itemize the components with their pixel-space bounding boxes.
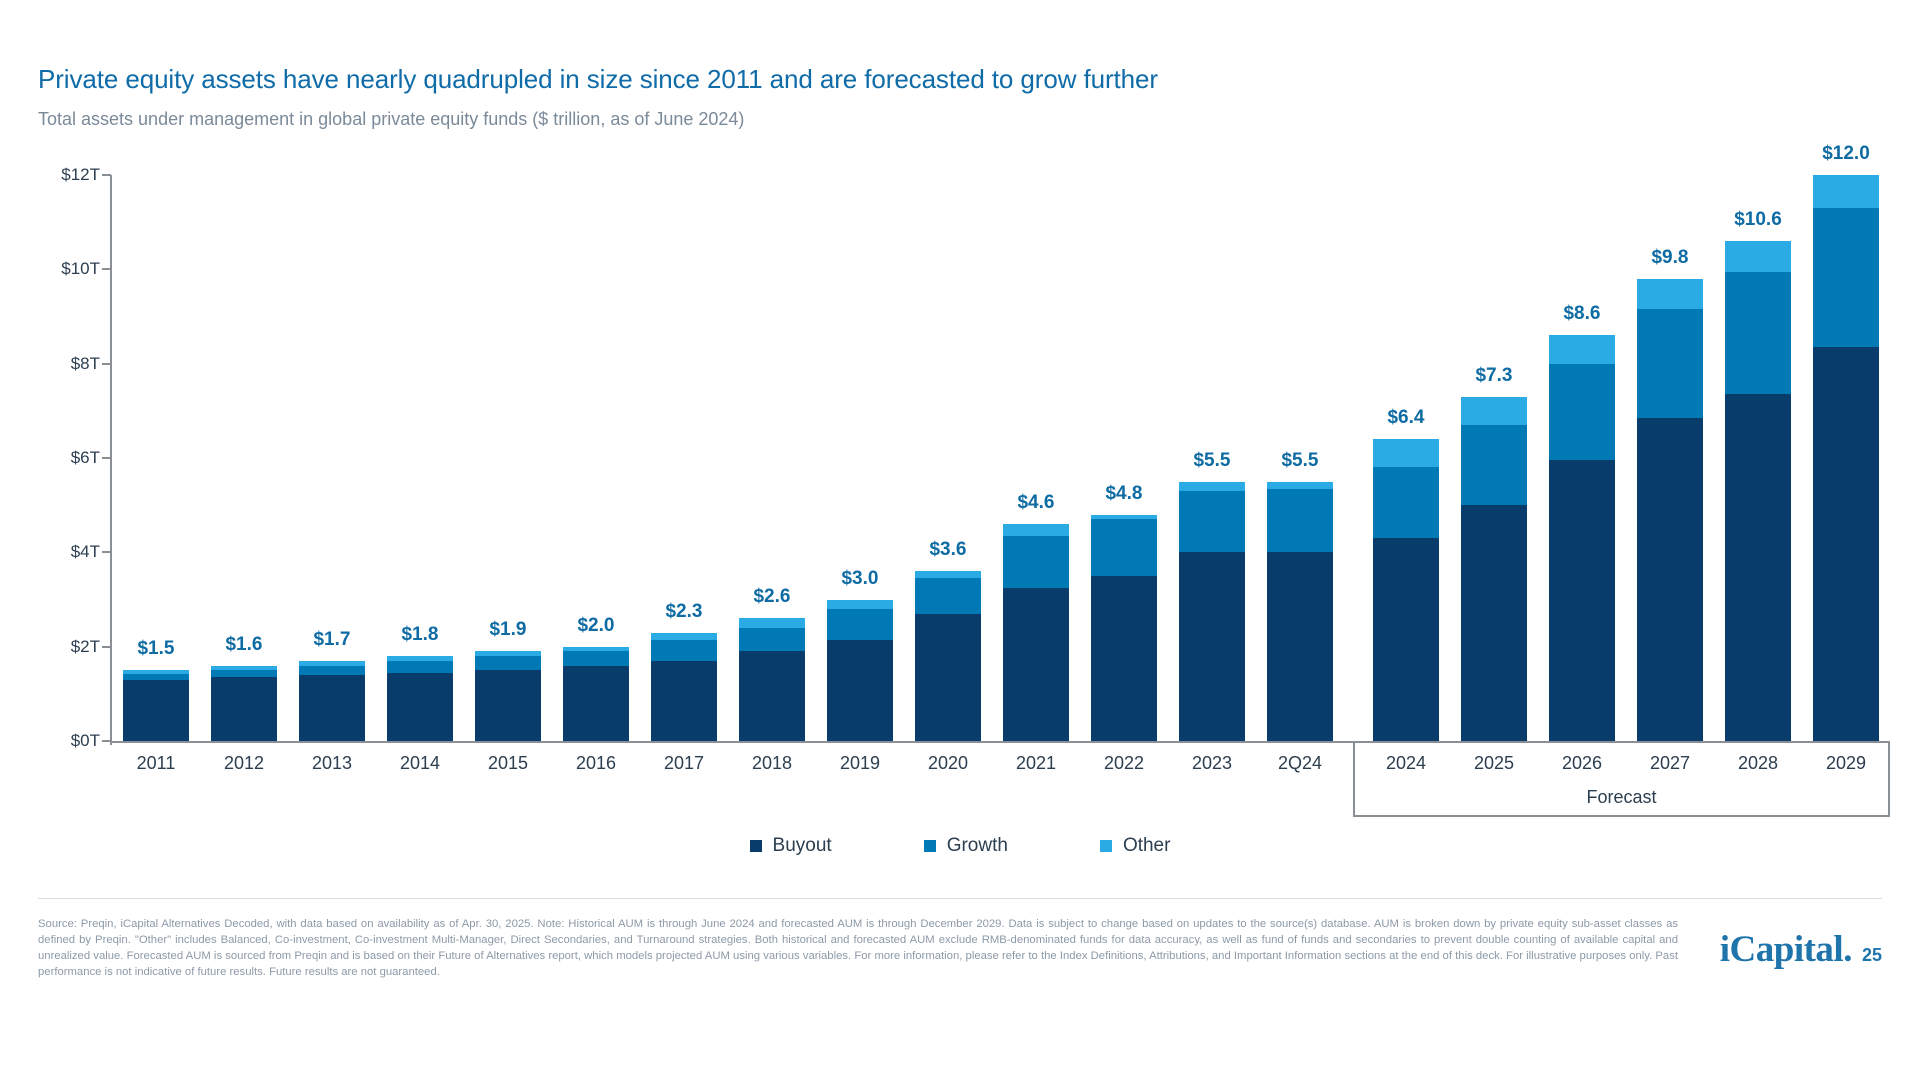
bar-stack[interactable] [211, 666, 276, 741]
x-axis-tick-label: 2021 [1016, 753, 1056, 774]
bar-value-label: $3.6 [929, 539, 966, 561]
bar-value-label: $1.7 [313, 629, 350, 651]
bar-segment-growth[interactable] [563, 651, 628, 665]
x-axis-tick-label: 2018 [752, 753, 792, 774]
bar-segment-buyout[interactable] [299, 675, 364, 741]
legend-swatch-icon [924, 840, 936, 852]
bar-segment-buyout[interactable] [915, 614, 980, 741]
bar-value-label: $9.8 [1651, 247, 1688, 269]
bar-value-label: $1.6 [225, 634, 262, 656]
bar-segment-buyout[interactable] [1091, 576, 1156, 741]
chart-area: $0T$2T$4T$6T$8T$10T$12T $1.5$1.6$1.7$1.8… [38, 175, 1890, 815]
y-axis-tick-mark [102, 268, 111, 270]
y-axis-tick-label: $8T [71, 354, 100, 374]
bar-group[interactable]: $9.8 [1637, 175, 1702, 741]
x-axis-tick-label: 2012 [224, 753, 264, 774]
bar-segment-growth[interactable] [1003, 536, 1068, 588]
chart-legend: BuyoutGrowthOther [0, 835, 1920, 857]
bar-segment-buyout[interactable] [1549, 460, 1614, 741]
bar-segment-other[interactable] [739, 618, 804, 627]
page-title: Private equity assets have nearly quadru… [38, 64, 1738, 95]
y-axis-tick-mark [102, 646, 111, 648]
bar-segment-buyout[interactable] [475, 670, 540, 741]
bar-segment-other[interactable] [1813, 175, 1878, 208]
bar-segment-other[interactable] [1637, 279, 1702, 310]
bar-segment-growth[interactable] [827, 609, 892, 640]
bar-segment-buyout[interactable] [1813, 347, 1878, 741]
bar-stack[interactable] [1549, 335, 1614, 741]
bar-segment-buyout[interactable] [1267, 552, 1332, 741]
forecast-baseline [1353, 815, 1890, 817]
x-axis-tick-label: 2015 [488, 753, 528, 774]
bar-value-label: $8.6 [1563, 303, 1600, 325]
x-axis-tick-label: 2027 [1650, 753, 1690, 774]
legend-item-other[interactable]: Other [1100, 835, 1171, 857]
bar-value-label: $5.5 [1193, 450, 1230, 472]
forecast-right-edge [1888, 743, 1890, 817]
icapital-logo: iCapital. [1720, 928, 1852, 971]
y-axis: $0T$2T$4T$6T$8T$10T$12T [38, 175, 110, 741]
bar-stack[interactable] [1373, 439, 1438, 741]
x-axis-tick-label: 2028 [1738, 753, 1778, 774]
bar-segment-buyout[interactable] [1725, 394, 1790, 741]
y-axis-tick-label: $2T [71, 637, 100, 657]
bar-segment-other[interactable] [1179, 482, 1244, 491]
bar-stack[interactable] [563, 647, 628, 741]
x-axis-tick-label: 2025 [1474, 753, 1514, 774]
bar-stack[interactable] [1091, 515, 1156, 741]
legend-item-buyout[interactable]: Buyout [750, 835, 832, 857]
forecast-divider [1353, 743, 1355, 817]
x-axis-tick-label: 2011 [137, 753, 176, 774]
bar-segment-buyout[interactable] [1637, 418, 1702, 741]
footer-divider [38, 898, 1882, 899]
x-axis-tick-label: 2029 [1826, 753, 1866, 774]
bar-segment-growth[interactable] [1373, 467, 1438, 538]
bar-stack[interactable] [1637, 279, 1702, 741]
x-axis-tick-label: 2024 [1386, 753, 1426, 774]
y-axis-tick-mark [102, 740, 111, 742]
bar-segment-buyout[interactable] [1461, 505, 1526, 741]
bar-group[interactable]: $4.8 [1091, 175, 1156, 741]
brand-block: iCapital. 25 [1720, 928, 1882, 971]
bar-segment-growth[interactable] [299, 666, 364, 675]
bar-segment-other[interactable] [1003, 524, 1068, 536]
bar-segment-growth[interactable] [651, 640, 716, 661]
bar-segment-growth[interactable] [1461, 425, 1526, 505]
bar-group[interactable]: $2.0 [563, 175, 628, 741]
bar-group[interactable]: $5.5 [1179, 175, 1244, 741]
header: Private equity assets have nearly quadru… [38, 64, 1738, 130]
bar-value-label: $5.5 [1281, 450, 1318, 472]
bar-segment-growth[interactable] [1549, 364, 1614, 461]
bar-stack[interactable] [651, 633, 716, 741]
legend-label: Growth [947, 835, 1008, 857]
x-axis-tick-label: 2016 [576, 753, 616, 774]
bar-segment-other[interactable] [827, 600, 892, 609]
bar-segment-other[interactable] [915, 571, 980, 578]
bar-segment-growth[interactable] [387, 661, 452, 673]
y-axis-tick-label: $0T [71, 731, 100, 751]
bar-group[interactable]: $3.6 [915, 175, 980, 741]
bar-segment-buyout[interactable] [827, 640, 892, 741]
bar-stack[interactable] [915, 571, 980, 741]
bar-segment-other[interactable] [651, 633, 716, 640]
bar-stack[interactable] [123, 670, 188, 741]
bar-segment-buyout[interactable] [387, 673, 452, 741]
bar-group[interactable]: $8.6 [1549, 175, 1614, 741]
y-axis-tick-mark [102, 174, 111, 176]
page-subtitle: Total assets under management in global … [38, 109, 1738, 130]
y-axis-tick-label: $10T [61, 259, 100, 279]
bar-stack[interactable] [1813, 175, 1878, 741]
bar-group[interactable]: $5.5 [1267, 175, 1332, 741]
bar-value-label: $7.3 [1475, 365, 1512, 387]
bar-segment-growth[interactable] [1637, 309, 1702, 417]
bar-segment-growth[interactable] [1725, 272, 1790, 395]
bar-segment-growth[interactable] [915, 578, 980, 613]
bar-group[interactable]: $2.6 [739, 175, 804, 741]
bar-value-label: $1.5 [137, 638, 174, 660]
bar-group[interactable]: $1.9 [475, 175, 540, 741]
x-axis-tick-label: 2020 [928, 753, 968, 774]
bar-group[interactable]: $7.3 [1461, 175, 1526, 741]
bar-stack[interactable] [1179, 482, 1244, 741]
bar-value-label: $12.0 [1822, 143, 1870, 165]
x-axis-tick-label: 2014 [400, 753, 440, 774]
bar-stack[interactable] [475, 651, 540, 741]
y-axis-tick-label: $4T [71, 542, 100, 562]
bar-value-label: $10.6 [1734, 209, 1782, 231]
x-axis-tick-label: 2022 [1104, 753, 1144, 774]
bar-segment-buyout[interactable] [739, 651, 804, 741]
bar-segment-growth[interactable] [1091, 519, 1156, 576]
bar-value-label: $2.3 [665, 601, 702, 623]
bar-segment-other[interactable] [1461, 397, 1526, 425]
legend-swatch-icon [750, 840, 762, 852]
y-axis-tick-label: $6T [71, 448, 100, 468]
bar-group[interactable]: $10.6 [1725, 175, 1790, 741]
bar-stack[interactable] [1725, 241, 1790, 741]
bar-segment-growth[interactable] [1179, 491, 1244, 552]
forecast-label: Forecast [1586, 787, 1656, 808]
bar-value-label: $1.8 [401, 624, 438, 646]
bar-stack[interactable] [739, 618, 804, 741]
bar-stack[interactable] [1003, 524, 1068, 741]
bar-group[interactable]: $6.4 [1373, 175, 1438, 741]
bar-value-label: $3.0 [841, 568, 878, 590]
x-axis: Forecast 2011201220132014201520162017201… [112, 743, 1890, 819]
bar-segment-growth[interactable] [1813, 208, 1878, 347]
page-number: 25 [1862, 945, 1882, 966]
bar-group[interactable]: $4.6 [1003, 175, 1068, 741]
bar-segment-buyout[interactable] [123, 680, 188, 741]
x-axis-tick-label: 2019 [840, 753, 880, 774]
slide-root: Private equity assets have nearly quadru… [0, 0, 1920, 1080]
bar-stack[interactable] [1267, 482, 1332, 741]
source-footnote: Source: Preqin, iCapital Alternatives De… [38, 916, 1678, 980]
bar-segment-buyout[interactable] [1179, 552, 1244, 741]
x-axis-tick-label: 2013 [312, 753, 352, 774]
y-axis-tick-mark [102, 551, 111, 553]
legend-item-growth[interactable]: Growth [924, 835, 1008, 857]
bar-group[interactable]: $1.8 [387, 175, 452, 741]
bar-group[interactable]: $1.5 [123, 175, 188, 741]
bar-value-label: $1.9 [489, 619, 526, 641]
plot-bars: $1.5$1.6$1.7$1.8$1.9$2.0$2.3$2.6$3.0$3.6… [112, 175, 1890, 741]
bar-segment-growth[interactable] [475, 656, 540, 670]
bar-group[interactable]: $12.0 [1813, 175, 1878, 741]
legend-label: Buyout [773, 835, 832, 857]
bar-value-label: $2.0 [577, 615, 614, 637]
bar-value-label: $4.8 [1105, 483, 1142, 505]
y-axis-tick-mark [102, 457, 111, 459]
x-axis-tick-label: 2017 [664, 753, 704, 774]
bar-segment-buyout[interactable] [563, 666, 628, 741]
bar-segment-growth[interactable] [211, 670, 276, 677]
bar-stack[interactable] [827, 600, 892, 741]
bar-segment-other[interactable] [1725, 241, 1790, 272]
bar-segment-other[interactable] [1267, 482, 1332, 489]
bar-segment-buyout[interactable] [211, 677, 276, 741]
bar-segment-buyout[interactable] [1003, 588, 1068, 741]
legend-label: Other [1123, 835, 1171, 857]
bar-value-label: $6.4 [1387, 407, 1424, 429]
bar-group[interactable]: $1.7 [299, 175, 364, 741]
bar-segment-growth[interactable] [1267, 489, 1332, 553]
bar-group[interactable]: $1.6 [211, 175, 276, 741]
x-axis-tick-label: 2026 [1562, 753, 1602, 774]
legend-swatch-icon [1100, 840, 1112, 852]
x-axis-tick-label: 2Q24 [1278, 753, 1322, 774]
bar-segment-other[interactable] [1549, 335, 1614, 363]
bar-stack[interactable] [387, 656, 452, 741]
bar-group[interactable]: $2.3 [651, 175, 716, 741]
bar-value-label: $2.6 [753, 586, 790, 608]
y-axis-tick-label: $12T [61, 165, 100, 185]
bar-segment-other[interactable] [1373, 439, 1438, 467]
bar-segment-growth[interactable] [739, 628, 804, 652]
x-axis-tick-label: 2023 [1192, 753, 1232, 774]
bar-group[interactable]: $3.0 [827, 175, 892, 741]
bar-stack[interactable] [1461, 397, 1526, 741]
bar-stack[interactable] [299, 661, 364, 741]
bar-segment-buyout[interactable] [1373, 538, 1438, 741]
bar-value-label: $4.6 [1017, 492, 1054, 514]
bar-segment-buyout[interactable] [651, 661, 716, 741]
y-axis-tick-mark [102, 363, 111, 365]
